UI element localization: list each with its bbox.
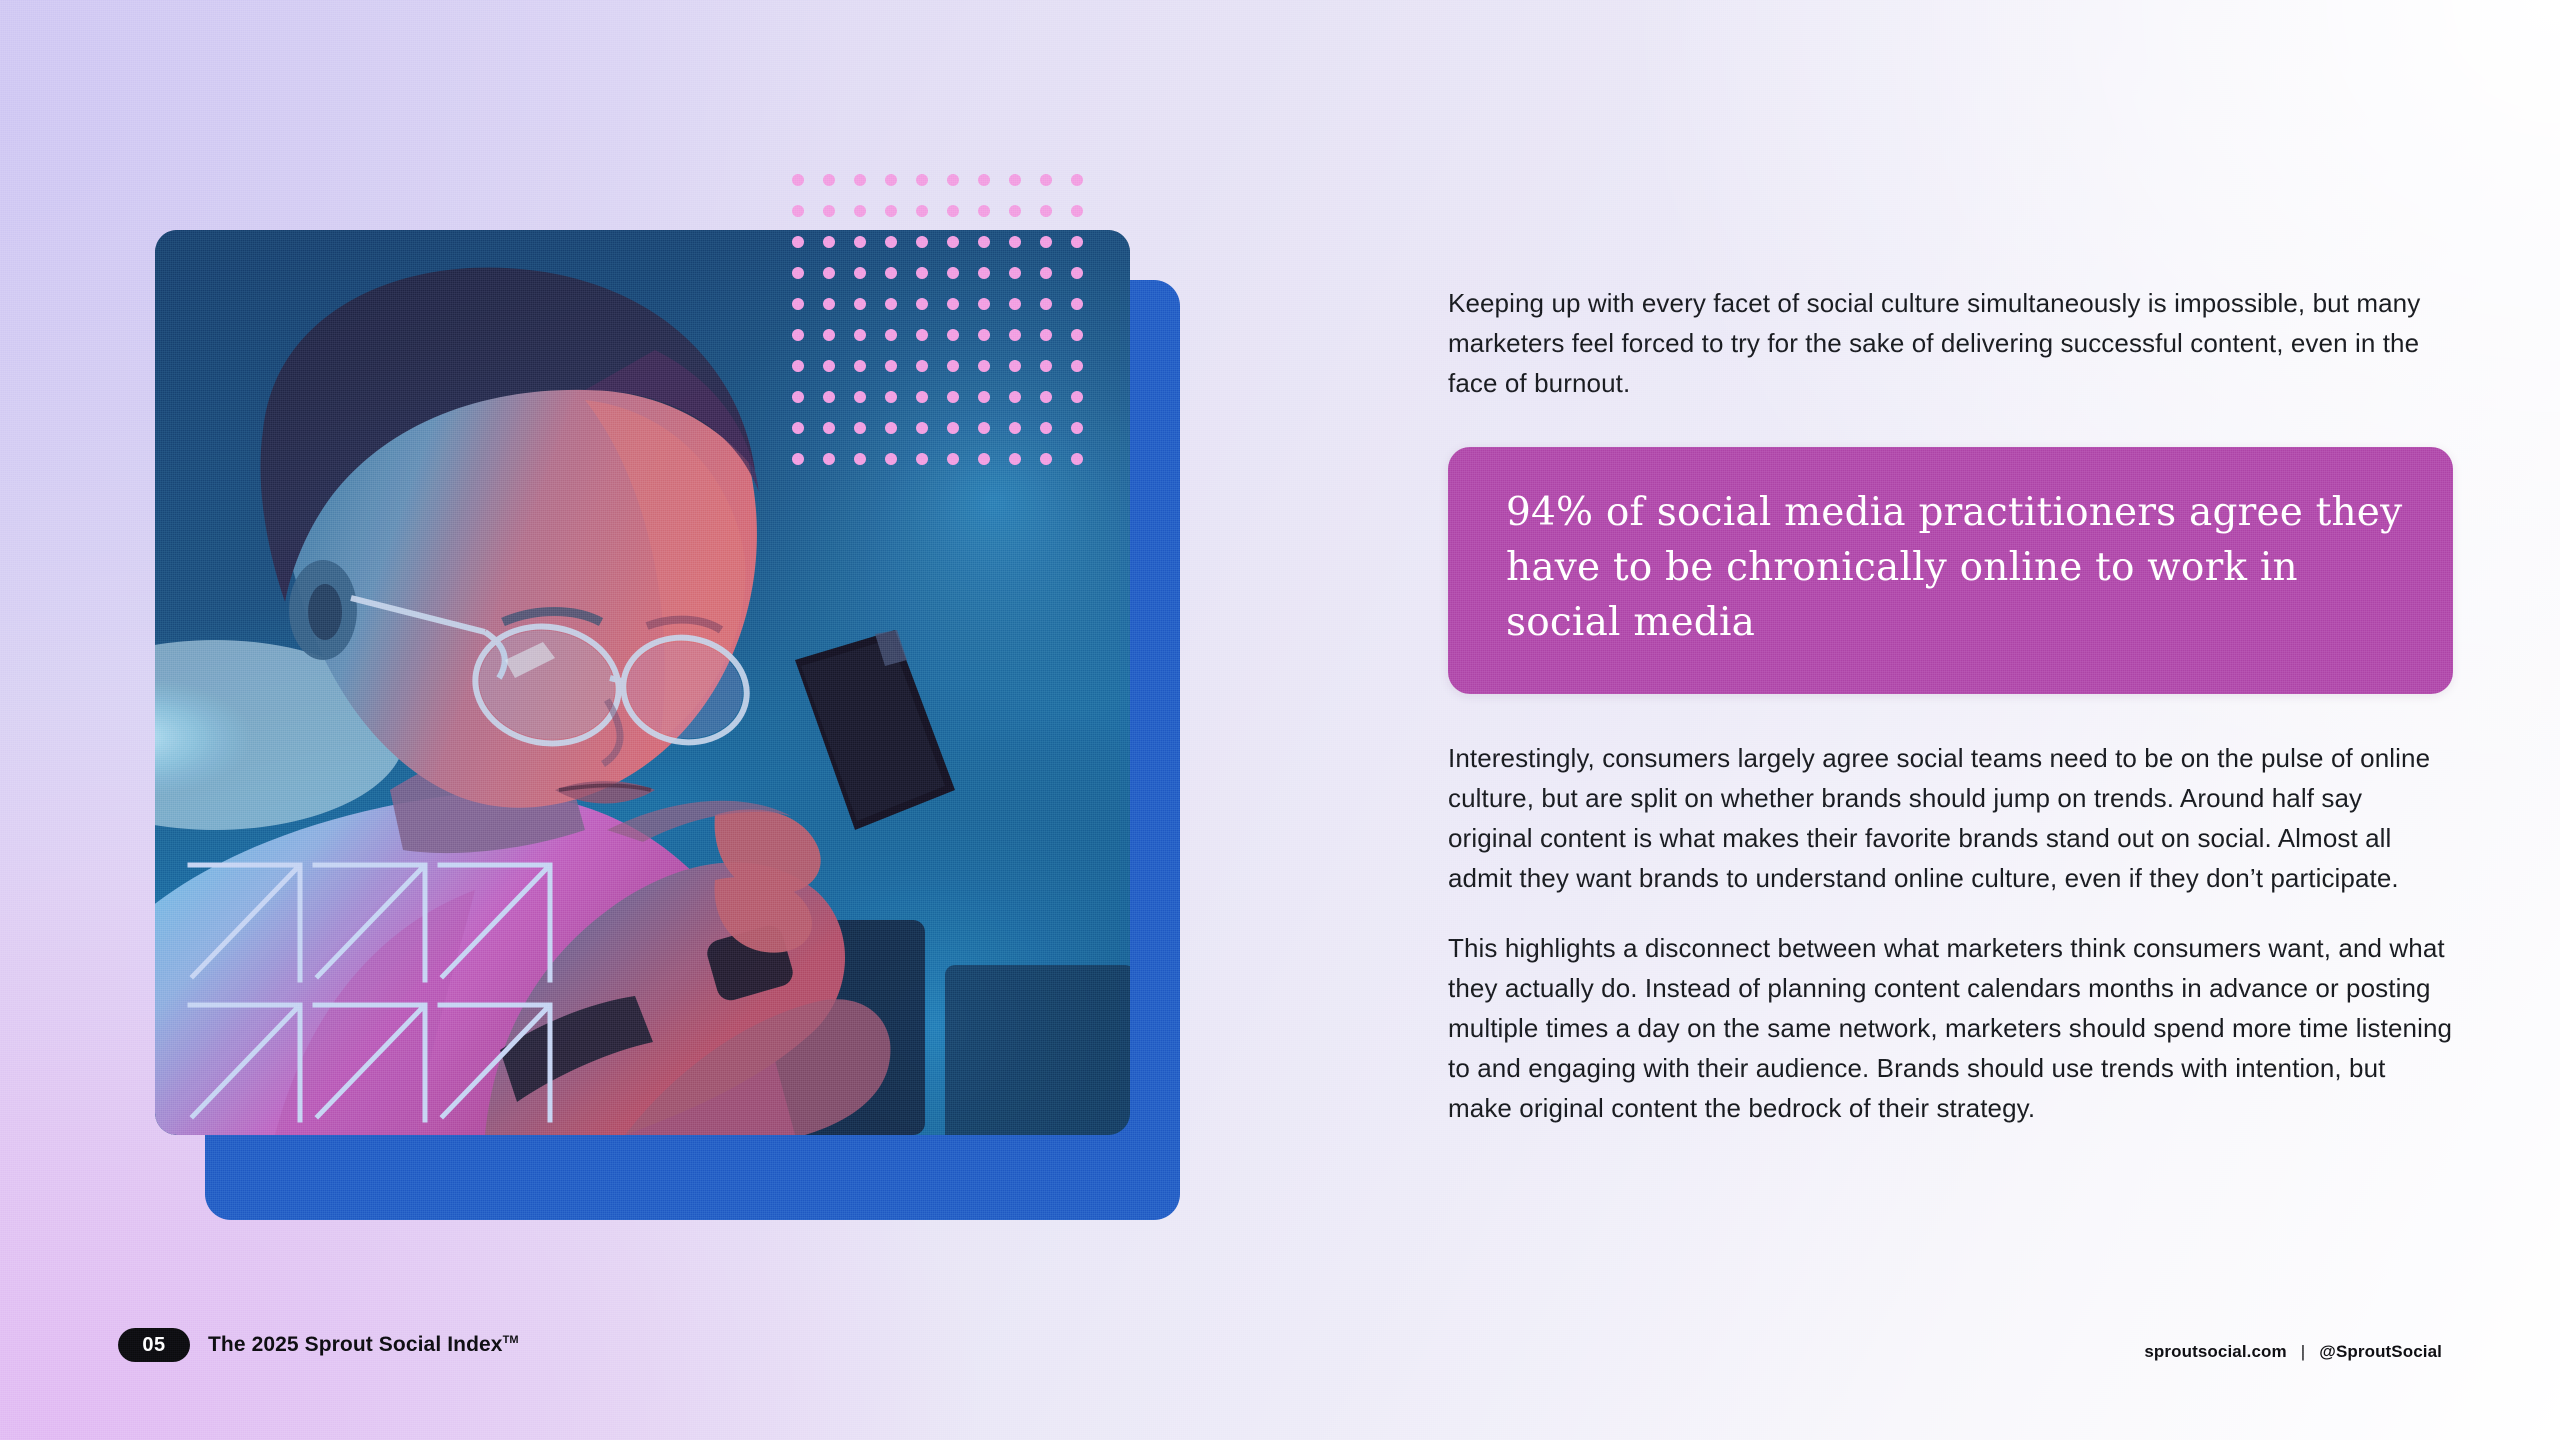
paragraph-3: This highlights a disconnect between wha… [1448, 928, 2453, 1128]
hero-visual [155, 230, 1130, 1170]
footer-website-link[interactable]: sproutsocial.com [2144, 1342, 2286, 1362]
paragraph-1: Keeping up with every facet of social cu… [1448, 283, 2453, 403]
footer-left: 05 The 2025 Sprout Social IndexTM [118, 1328, 519, 1362]
stat-callout-text: 94% of social media practitioners agree … [1506, 485, 2405, 650]
arrow-motif-group [185, 850, 555, 1145]
trademark-symbol: TM [503, 1334, 519, 1346]
body-copy-column: Keeping up with every facet of social cu… [1448, 283, 2453, 1128]
footer-separator: | [2301, 1342, 2306, 1362]
paragraph-2: Interestingly, consumers largely agree s… [1448, 738, 2453, 898]
stat-callout-card: 94% of social media practitioners agree … [1448, 447, 2453, 694]
footer-social-handle[interactable]: @SproutSocial [2319, 1342, 2442, 1362]
report-page: Keeping up with every facet of social cu… [0, 0, 2560, 1440]
footer-report-title: The 2025 Sprout Social IndexTM [208, 1333, 519, 1357]
footer-title-text: The 2025 Sprout Social Index [208, 1333, 503, 1356]
page-number-badge: 05 [118, 1328, 190, 1362]
footer-right: sproutsocial.com | @SproutSocial [2144, 1342, 2442, 1362]
diagonal-arrow-grid-icon [185, 850, 555, 1140]
